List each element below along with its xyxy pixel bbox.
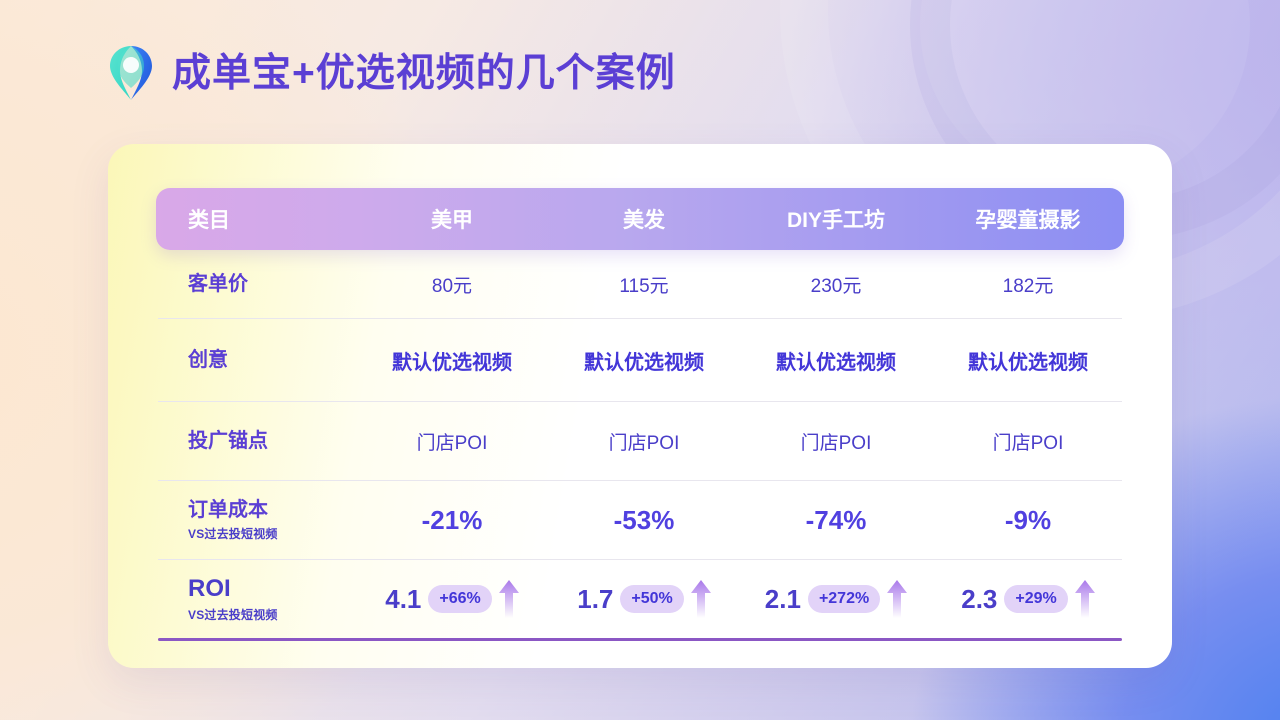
cell-value: 230元 — [740, 271, 932, 298]
slide-canvas: 成单宝+优选视频的几个案例 类目 美甲 美发 DIY手工坊 孕婴童摄影 客单价 … — [0, 0, 1280, 720]
content-card: 类目 美甲 美发 DIY手工坊 孕婴童摄影 客单价 80元 115元 230元 … — [108, 144, 1172, 668]
cell-value: 门店POI — [740, 428, 932, 455]
cell-value: 默认优选视频 — [548, 346, 740, 375]
cell-value-roi: 4.1 +66% — [356, 580, 548, 618]
table-bottom-rule — [158, 638, 1122, 641]
cell-value: 门店POI — [548, 428, 740, 455]
column-header-diy: DIY手工坊 — [740, 204, 932, 234]
roi-value: 4.1 — [385, 584, 421, 615]
cell-value: -9% — [932, 505, 1124, 536]
table-row: 投广锚点 门店POI 门店POI 门店POI 门店POI — [156, 402, 1124, 480]
arrow-up-icon — [1075, 580, 1095, 618]
row-label: ROI — [188, 575, 356, 603]
slide-header: 成单宝+优选视频的几个案例 — [108, 44, 676, 102]
status-badge: +272% — [808, 585, 880, 613]
table-row: 客单价 80元 115元 230元 182元 — [156, 250, 1124, 318]
row-label-cell: 客单价 — [156, 273, 356, 296]
cell-value: 门店POI — [356, 428, 548, 455]
row-label-cell: 订单成本 VS过去投短视频 — [156, 499, 356, 542]
roi-value: 2.1 — [765, 584, 801, 615]
cell-value: 115元 — [548, 271, 740, 298]
cell-value: 默认优选视频 — [356, 346, 548, 375]
status-badge: +66% — [428, 585, 491, 613]
row-label: 投广锚点 — [188, 430, 356, 453]
cell-value: 80元 — [356, 271, 548, 298]
cell-value: -74% — [740, 505, 932, 536]
roi-value: 1.7 — [577, 584, 613, 615]
cell-value-roi: 2.1 +272% — [740, 580, 932, 618]
row-label-cell: 投广锚点 — [156, 430, 356, 453]
table-row: ROI VS过去投短视频 4.1 +66% 1.7 +50% — [156, 560, 1124, 638]
status-badge: +50% — [620, 585, 683, 613]
cell-value: -21% — [356, 505, 548, 536]
roi-value: 2.3 — [961, 584, 997, 615]
cell-value: -53% — [548, 505, 740, 536]
column-header-nails: 美甲 — [356, 204, 548, 234]
row-label-cell: 创意 — [156, 349, 356, 372]
status-badge: +29% — [1004, 585, 1067, 613]
cell-value: 默认优选视频 — [932, 346, 1124, 375]
cell-value: 门店POI — [932, 428, 1124, 455]
cases-table: 类目 美甲 美发 DIY手工坊 孕婴童摄影 客单价 80元 115元 230元 … — [156, 188, 1124, 641]
column-header-hair: 美发 — [548, 204, 740, 234]
table-row: 订单成本 VS过去投短视频 -21% -53% -74% -9% — [156, 481, 1124, 559]
arrow-up-icon — [499, 580, 519, 618]
row-sublabel: VS过去投短视频 — [188, 606, 356, 623]
cell-value: 182元 — [932, 271, 1124, 298]
arrow-up-icon — [887, 580, 907, 618]
column-header-category: 类目 — [156, 204, 356, 234]
arrow-up-icon — [691, 580, 711, 618]
cell-value: 默认优选视频 — [740, 346, 932, 375]
location-pin-icon — [108, 44, 154, 102]
column-header-maternity: 孕婴童摄影 — [932, 204, 1124, 234]
row-label: 客单价 — [188, 273, 356, 296]
row-sublabel: VS过去投短视频 — [188, 525, 356, 542]
cell-value-roi: 1.7 +50% — [548, 580, 740, 618]
row-label: 创意 — [188, 349, 356, 372]
table-row: 创意 默认优选视频 默认优选视频 默认优选视频 默认优选视频 — [156, 319, 1124, 401]
cell-value-roi: 2.3 +29% — [932, 580, 1124, 618]
table-header-row: 类目 美甲 美发 DIY手工坊 孕婴童摄影 — [156, 188, 1124, 250]
page-title: 成单宝+优选视频的几个案例 — [172, 54, 676, 93]
row-label-cell: ROI VS过去投短视频 — [156, 575, 356, 623]
row-label: 订单成本 — [188, 499, 356, 522]
